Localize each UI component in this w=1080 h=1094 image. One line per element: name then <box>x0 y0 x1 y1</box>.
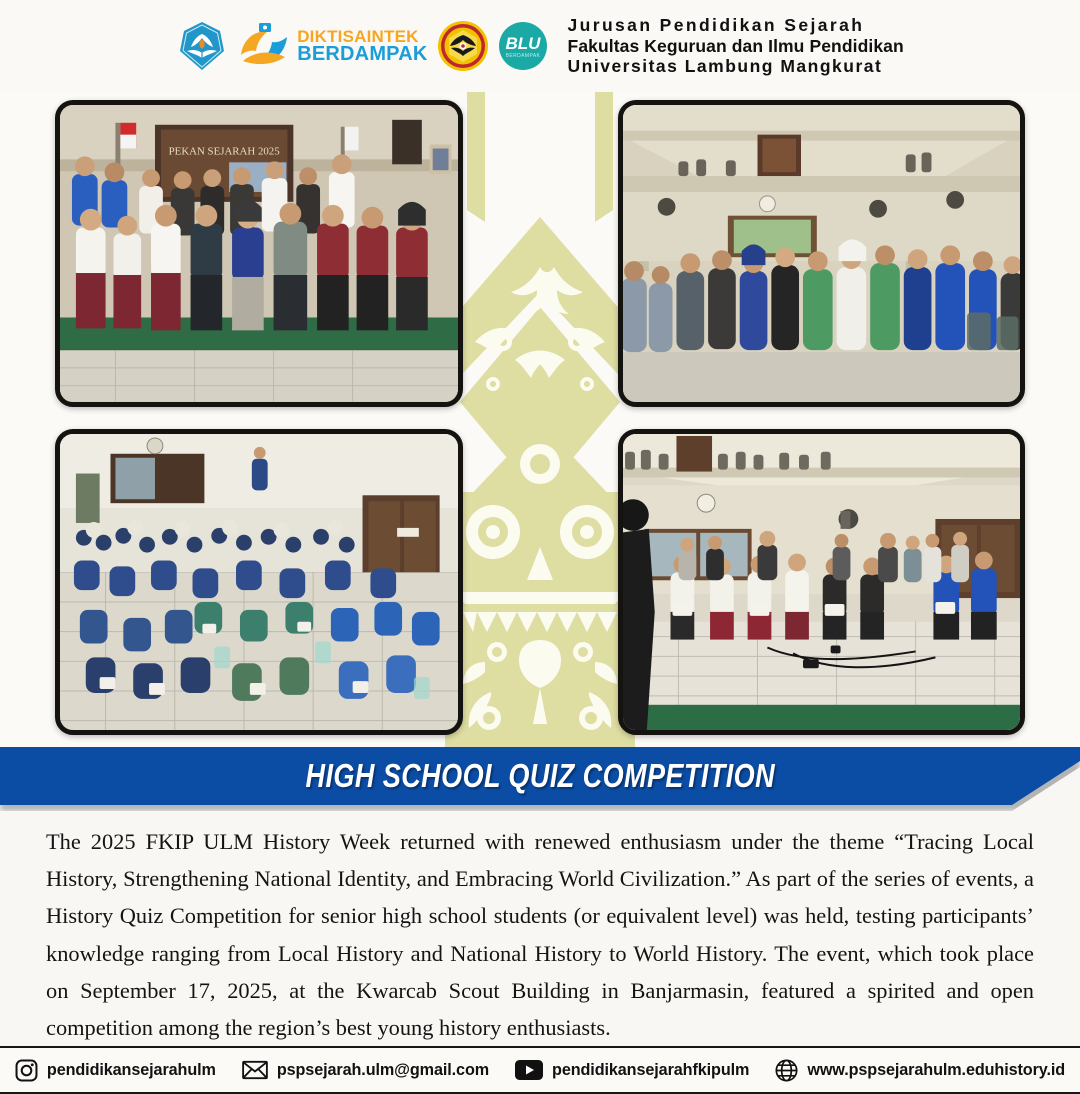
contact-instagram[interactable]: pendidikansejarahulm <box>15 1059 216 1082</box>
universitas-lambung-mangkurat-logo <box>437 20 489 72</box>
youtube-icon <box>515 1060 543 1080</box>
title-ribbon-wrap: HIGH SCHOOL QUIZ COMPETITION <box>0 747 1080 809</box>
diktisaintek-mark-icon <box>237 21 291 71</box>
photo-group-stage[interactable]: PEKAN SEJARAH 2025 <box>55 100 463 407</box>
tut-wuri-handayani-logo <box>176 20 228 72</box>
youtube-channel: pendidikansejarahfkipulm <box>552 1061 749 1080</box>
blu-logo: BLU BERDAMPAK <box>498 21 548 71</box>
instagram-handle: pendidikansejarahulm <box>47 1061 216 1080</box>
diktisaintek-wordmark: DIKTISAINTEK BERDAMPAK <box>297 29 427 63</box>
photo-hall-crowd[interactable] <box>618 100 1026 407</box>
photo-gallery: PEKAN SEJARAH 2025 <box>0 92 1080 747</box>
article-body-wrap: The 2025 FKIP ULM History Week returned … <box>0 809 1080 1046</box>
globe-icon <box>775 1059 798 1082</box>
photo-written-test[interactable] <box>55 429 463 736</box>
header: DIKTISAINTEK BERDAMPAK BLU BERDAMPAK <box>0 0 1080 92</box>
svg-text:BERDAMPAK: BERDAMPAK <box>505 53 540 59</box>
svg-text:BLU: BLU <box>505 34 541 53</box>
header-title-line1: Jurusan Pendidikan Sejarah <box>568 15 904 35</box>
contact-website[interactable]: www.pspsejarahulm.eduhistory.id <box>775 1059 1065 1082</box>
header-title-line2: Fakultas Keguruan dan Ilmu Pendidikan <box>568 36 904 56</box>
contact-footer: pendidikansejarahulm pspsejarah.ulm@gmai… <box>0 1046 1080 1094</box>
photo-written-test-image <box>60 434 458 731</box>
poster-root: DIKTISAINTEK BERDAMPAK BLU BERDAMPAK <box>0 0 1080 1080</box>
contact-email[interactable]: pspsejarah.ulm@gmail.com <box>242 1060 489 1080</box>
photo-quiz-final[interactable] <box>618 429 1026 736</box>
header-title-line3: Universitas Lambung Mangkurat <box>568 56 904 76</box>
instagram-icon <box>15 1059 38 1082</box>
photo-group-stage-image: PEKAN SEJARAH 2025 <box>60 105 458 402</box>
contact-youtube[interactable]: pendidikansejarahfkipulm <box>515 1060 749 1080</box>
website-url: www.pspsejarahulm.eduhistory.id <box>807 1061 1065 1080</box>
article-body: The 2025 FKIP ULM History Week returned … <box>46 823 1034 1046</box>
svg-text:PEKAN SEJARAH 2025: PEKAN SEJARAH 2025 <box>169 145 280 157</box>
photo-hall-crowd-image <box>623 105 1021 402</box>
diktisaintek-line2: BERDAMPAK <box>297 45 427 64</box>
logo-row: DIKTISAINTEK BERDAMPAK BLU BERDAMPAK <box>176 20 547 72</box>
email-address: pspsejarah.ulm@gmail.com <box>277 1061 489 1080</box>
photo-grid: PEKAN SEJARAH 2025 <box>0 92 1080 747</box>
photo-quiz-final-image <box>623 434 1021 731</box>
email-icon <box>242 1060 268 1080</box>
title-ribbon: HIGH SCHOOL QUIZ COMPETITION <box>0 747 1080 805</box>
header-title-block: Jurusan Pendidikan Sejarah Fakultas Kegu… <box>568 15 904 76</box>
diktisaintek-berdampak-logo: DIKTISAINTEK BERDAMPAK <box>237 21 427 71</box>
page-title: HIGH SCHOOL QUIZ COMPETITION <box>305 757 775 795</box>
